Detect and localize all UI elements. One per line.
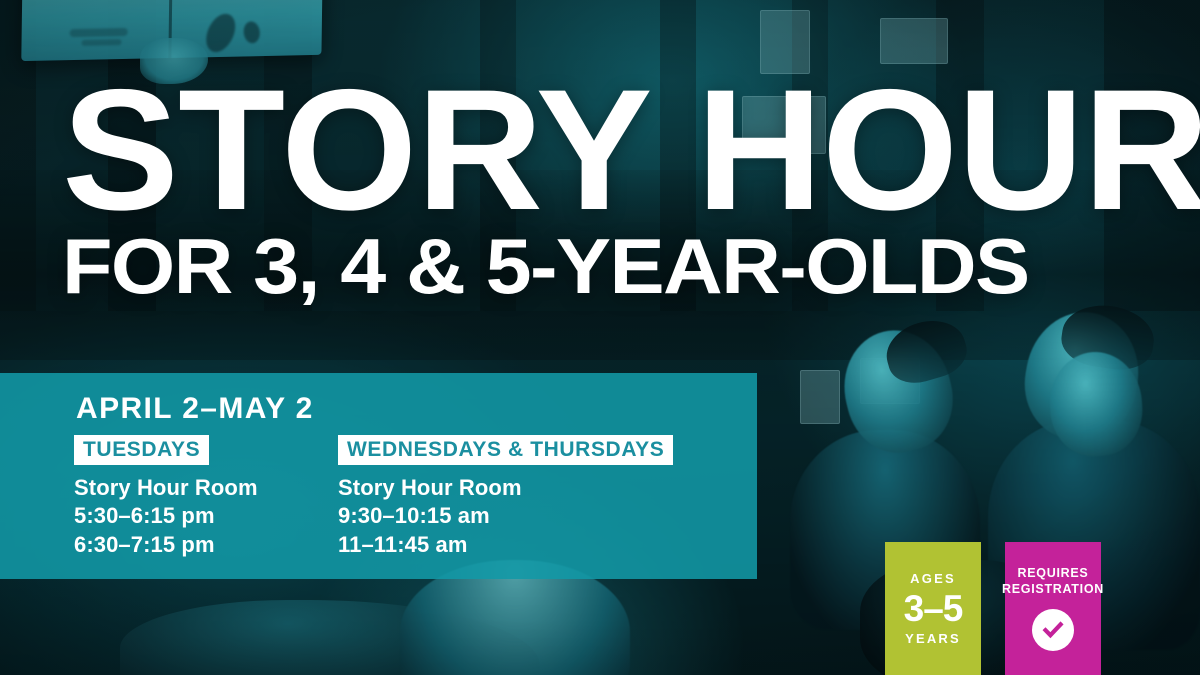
badge-group: AGES 3–5 YEARS REQUIRES REGISTRATION — [885, 542, 1101, 675]
status-badge-ages: AGES 3–5 YEARS — [885, 542, 981, 675]
day-label-wednesdays-thursdays: WEDNESDAYS & THURSDAYS — [338, 435, 673, 465]
page-title: STORY HOUR — [62, 78, 1174, 222]
schedule-column-wednesdays-thursdays: WEDNESDAYS & THURSDAYS Story Hour Room 9… — [338, 435, 758, 559]
time-tuesdays-1: 5:30–6:15 pm — [74, 502, 306, 530]
time-wednesdays-thursdays-2: 11–11:45 am — [338, 531, 758, 559]
day-label-tuesdays: TUESDAYS — [74, 435, 209, 465]
time-wednesdays-thursdays-1: 9:30–10:15 am — [338, 502, 758, 530]
time-tuesdays-2: 6:30–7:15 pm — [74, 531, 306, 559]
location-wednesdays-thursdays: Story Hour Room — [338, 474, 758, 502]
location-tuesdays: Story Hour Room — [74, 474, 306, 502]
story-hour-poster: STORY HOUR FOR 3, 4 & 5-YEAR-OLDS APRIL … — [0, 0, 1200, 675]
schedule-columns: TUESDAYS Story Hour Room 5:30–6:15 pm 6:… — [74, 435, 758, 559]
status-badge-registration: REQUIRES REGISTRATION — [1005, 542, 1101, 675]
schedule-column-tuesdays: TUESDAYS Story Hour Room 5:30–6:15 pm 6:… — [74, 435, 306, 559]
check-circle-icon — [1032, 609, 1074, 651]
date-range: APRIL 2–MAY 2 — [76, 392, 314, 426]
headline-block: STORY HOUR FOR 3, 4 & 5-YEAR-OLDS — [62, 78, 1152, 300]
ages-badge-top-label: AGES — [910, 572, 956, 585]
schedule-panel: APRIL 2–MAY 2 TUESDAYS Story Hour Room 5… — [0, 373, 757, 579]
ages-badge-bottom-label: YEARS — [905, 632, 961, 645]
page-subtitle: FOR 3, 4 & 5-YEAR-OLDS — [62, 234, 1200, 300]
registration-badge-line-1: REQUIRES — [1018, 566, 1089, 582]
registration-badge-line-2: REGISTRATION — [1002, 582, 1104, 598]
ages-badge-range: 3–5 — [904, 590, 963, 627]
